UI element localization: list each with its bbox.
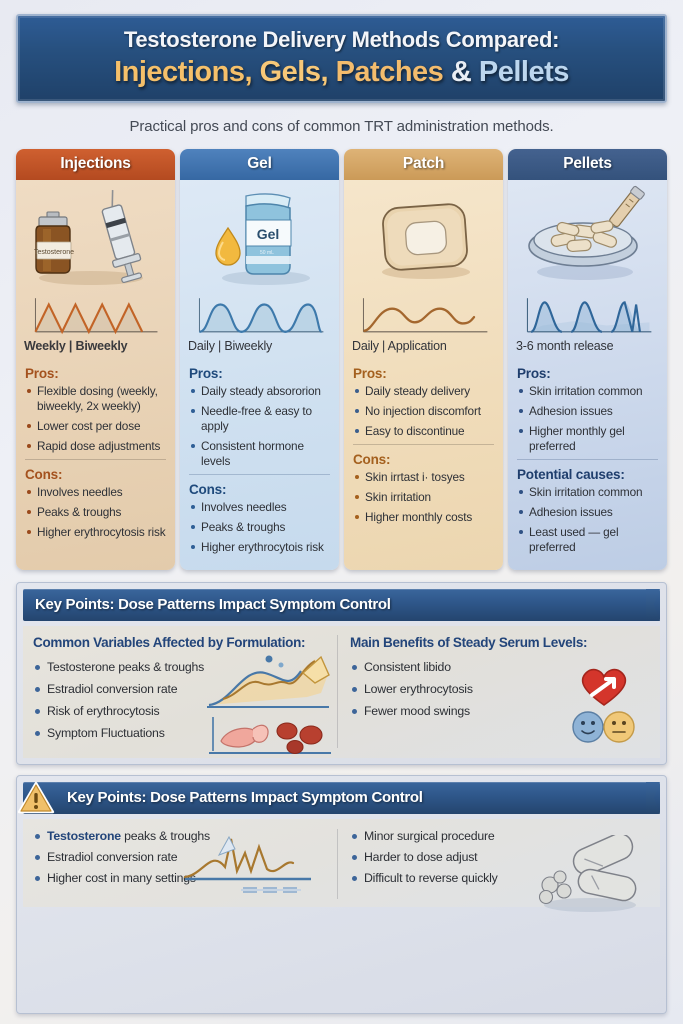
- list-item: Symptom Fluctuations: [33, 726, 327, 740]
- list-item-text: peaks & troughs: [121, 829, 210, 843]
- svg-text:Testosterone: Testosterone: [33, 249, 73, 256]
- list-item: Peaks & troughs: [189, 520, 330, 535]
- panel2-left-list: Testosterone peaks & troughs Estradiol c…: [33, 829, 327, 885]
- title-word-injections: Injections,: [114, 56, 252, 88]
- injections-pros-label: Pros:: [25, 366, 166, 381]
- gel-pros-list: Daily steady absororion Needle-free & ea…: [189, 384, 330, 469]
- patch-pros-list: Daily steady delivery No injection disco…: [353, 384, 494, 439]
- patch-pros-label: Pros:: [353, 366, 494, 381]
- steady-benefits-column: Main Benefits of Steady Serum Levels: Co…: [338, 635, 650, 748]
- list-item: Estradiol conversion rate: [33, 682, 327, 696]
- list-item: Higher monthly gel preferred: [517, 424, 658, 454]
- injections-cons-list: Involves needles Peaks & troughs Higher …: [25, 485, 166, 540]
- method-card-patch[interactable]: Patch Daily | Application Pros:: [344, 149, 503, 570]
- vial-and-syringe-icon: Testosterone: [16, 180, 175, 292]
- list-item: Involves needles: [25, 485, 166, 500]
- list-item: Risk of erythrocytosis: [33, 704, 327, 718]
- divider: [517, 459, 658, 460]
- method-card-gel[interactable]: Gel Gel 50 mL: [180, 149, 339, 570]
- gel-dose-chart: [180, 292, 339, 336]
- panel2-left-column: Testosterone peaks & troughs Estradiol c…: [33, 829, 338, 899]
- page-title-line2: Injections, Gels, Patches & Pellets: [30, 55, 653, 90]
- injections-cons-label: Cons:: [25, 467, 166, 482]
- patch-dose-chart: [344, 292, 503, 336]
- pellets-dish-icon: [508, 180, 667, 292]
- warning-triangle-icon: [17, 781, 55, 815]
- list-item: Skin irrtast i· tosyes: [353, 470, 494, 485]
- patch-cons-label: Cons:: [353, 452, 494, 467]
- card-header-gel: Gel: [180, 149, 339, 180]
- list-item: Higher monthly costs: [353, 510, 494, 525]
- divider: [353, 444, 494, 445]
- injections-frequency: Weekly | Biweekly: [16, 336, 175, 360]
- pellets-cons-label: Potential causes:: [517, 467, 658, 482]
- page-title-line1: Testosterone Delivery Methods Compared:: [30, 26, 653, 54]
- card-header-pellets: Pellets: [508, 149, 667, 180]
- infographic-page: Testosterone Delivery Methods Compared: …: [0, 0, 683, 1024]
- list-item: Harder to dose adjust: [350, 850, 644, 864]
- list-item: Rapid dose adjustments: [25, 439, 166, 454]
- list-item: Consistent libido: [350, 660, 644, 674]
- pellets-dose-chart: [508, 292, 667, 336]
- bold-keyword: Testosterone: [47, 829, 121, 843]
- list-item: Least used — gel preferred: [517, 525, 658, 555]
- list-item: Skin irritation common: [517, 485, 658, 500]
- divider: [189, 474, 330, 475]
- patch-frequency: Daily | Application: [344, 336, 503, 360]
- injections-dose-chart: [16, 292, 175, 336]
- key-points-panel-2: Key Points: Dose Patterns Impact Symptom…: [16, 775, 667, 1014]
- title-word-pellets: Pellets: [479, 56, 569, 88]
- gel-cons-list: Involves needles Peaks & troughs Higher …: [189, 500, 330, 555]
- title-word-gels: Gels,: [260, 56, 328, 88]
- panel2-right-column: Minor surgical procedure Harder to dose …: [338, 829, 650, 899]
- pellets-lists: Pros: Skin irritation common Adhesion is…: [508, 360, 667, 570]
- gel-lists: Pros: Daily steady absororion Needle-fre…: [180, 360, 339, 570]
- skin-patch-icon: [344, 180, 503, 292]
- method-card-pellets[interactable]: Pellets: [508, 149, 667, 570]
- list-item: Higher erythrocytois risk: [189, 540, 330, 555]
- list-item: Higher erythrocytosis risk: [25, 525, 166, 540]
- page-subtitle: Practical pros and cons of common TRT ad…: [16, 103, 667, 149]
- list-item: Flexible dosing (weekly, biweekly, 2x we…: [25, 384, 166, 414]
- card-header-patch: Patch: [344, 149, 503, 180]
- title-banner: Testosterone Delivery Methods Compared: …: [16, 14, 667, 103]
- list-item: Skin irritation common: [517, 384, 658, 399]
- common-variables-column: Common Variables Affected by Formulation…: [33, 635, 338, 748]
- gel-frequency: Daily | Biweekly: [180, 336, 339, 360]
- pellets-frequency: 3-6 month release: [508, 336, 667, 360]
- divider: [25, 459, 166, 460]
- key-points-body-2: Testosterone peaks & troughs Estradiol c…: [23, 819, 660, 907]
- list-item: Skin irritation: [353, 490, 494, 505]
- list-item: No injection discomfort: [353, 404, 494, 419]
- list-item: Involves needles: [189, 500, 330, 515]
- list-item: Peaks & troughs: [25, 505, 166, 520]
- list-item: Lower erythrocytosis: [350, 682, 644, 696]
- list-item: Consistent hormone levels: [189, 439, 330, 469]
- key-points-ribbon-2: Key Points: Dose Patterns Impact Symptom…: [23, 782, 660, 814]
- list-item: Difficult to reverse quickly: [350, 871, 644, 885]
- pellets-pros-list: Skin irritation common Adhesion issues H…: [517, 384, 658, 454]
- svg-text:50 mL: 50 mL: [260, 250, 274, 256]
- list-item: Testosterone peaks & troughs: [33, 660, 327, 674]
- method-columns: Injections: [16, 149, 667, 570]
- method-card-injections[interactable]: Injections: [16, 149, 175, 570]
- injections-lists: Pros: Flexible dosing (weekly, biweekly,…: [16, 360, 175, 570]
- list-item: Lower cost per dose: [25, 419, 166, 434]
- title-word-amp: &: [451, 56, 471, 88]
- patch-lists: Pros: Daily steady delivery No injection…: [344, 360, 503, 570]
- key-points-body-1: Common Variables Affected by Formulation…: [23, 626, 660, 758]
- svg-text:Gel: Gel: [256, 226, 279, 242]
- steady-benefits-title: Main Benefits of Steady Serum Levels:: [350, 635, 644, 652]
- list-item: Adhesion issues: [517, 404, 658, 419]
- injections-pros-list: Flexible dosing (weekly, biweekly, 2x we…: [25, 384, 166, 454]
- pellets-pros-label: Pros:: [517, 366, 658, 381]
- key-points-ribbon-2-label: Key Points: Dose Patterns Impact Symptom…: [67, 789, 423, 806]
- key-points-ribbon-1: Key Points: Dose Patterns Impact Symptom…: [23, 589, 660, 621]
- list-item: Testosterone peaks & troughs: [33, 829, 327, 843]
- list-item: Daily steady delivery: [353, 384, 494, 399]
- gel-tube-icon: Gel 50 mL: [180, 180, 339, 292]
- pellets-cons-list: Skin irritation common Adhesion issues L…: [517, 485, 658, 555]
- common-variables-list: Testosterone peaks & troughs Estradiol c…: [33, 660, 327, 740]
- list-item: Fewer mood swings: [350, 704, 644, 718]
- list-item: Estradiol conversion rate: [33, 850, 327, 864]
- list-item: Minor surgical procedure: [350, 829, 644, 843]
- title-word-patches: Patches: [336, 56, 444, 88]
- panel2-right-list: Minor surgical procedure Harder to dose …: [350, 829, 644, 885]
- list-item: Easy to discontinue: [353, 424, 494, 439]
- gel-pros-label: Pros:: [189, 366, 330, 381]
- list-item: Needle-free & easy to apply: [189, 404, 330, 434]
- list-item: Higher cost in many settings: [33, 871, 327, 885]
- key-points-panel-1: Key Points: Dose Patterns Impact Symptom…: [16, 582, 667, 765]
- patch-cons-list: Skin irrtast i· tosyes Skin irritation H…: [353, 470, 494, 525]
- card-header-injections: Injections: [16, 149, 175, 180]
- list-item: Daily steady absororion: [189, 384, 330, 399]
- gel-cons-label: Cons:: [189, 482, 330, 497]
- common-variables-title: Common Variables Affected by Formulation…: [33, 635, 327, 652]
- steady-benefits-list: Consistent libido Lower erythrocytosis F…: [350, 660, 644, 718]
- list-item: Adhesion issues: [517, 505, 658, 520]
